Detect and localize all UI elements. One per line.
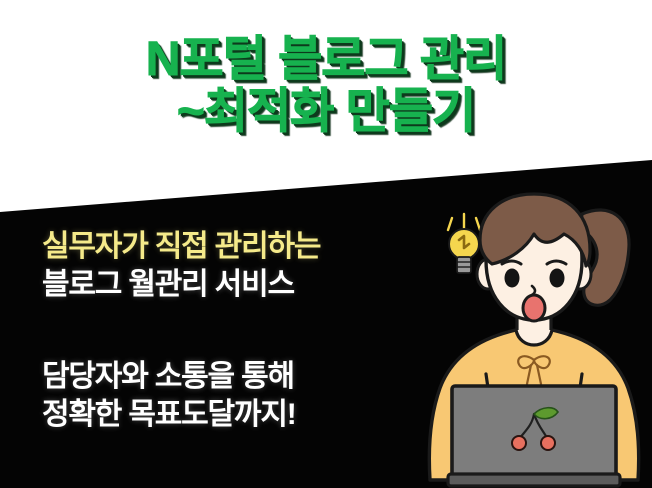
eye-left xyxy=(505,269,520,288)
laptop xyxy=(448,374,620,486)
headline-line-1: N포털 블로그 관리 xyxy=(146,33,506,86)
copy-block-service: 실무자가 직접 관리하는 블로그 월관리 서비스 xyxy=(42,228,320,305)
woman-at-laptop-illustration xyxy=(414,178,652,488)
copy-block-service-line-2: 블로그 월관리 서비스 xyxy=(42,266,320,304)
copy-block-goal-line-2: 정확한 목표도달까지! xyxy=(42,396,296,434)
poster-canvas: N포털 블로그 관리 ~최적화 만들기 실무자가 직접 관리하는 블로그 월관리… xyxy=(0,0,652,488)
headline-line-2: ~최적화 만들기 xyxy=(0,88,652,136)
eye-right xyxy=(550,269,565,288)
idea-lightbulb-icon xyxy=(448,214,480,273)
open-mouth xyxy=(523,295,545,321)
poster-headline: N포털 블로그 관리 ~최적화 만들기 xyxy=(0,36,652,135)
copy-block-service-line-1: 실무자가 직접 관리하는 xyxy=(42,228,320,266)
copy-block-goal-line-1: 담당자와 소통을 통해 xyxy=(42,358,296,396)
copy-block-goal: 담당자와 소통을 통해 정확한 목표도달까지! xyxy=(42,358,296,435)
